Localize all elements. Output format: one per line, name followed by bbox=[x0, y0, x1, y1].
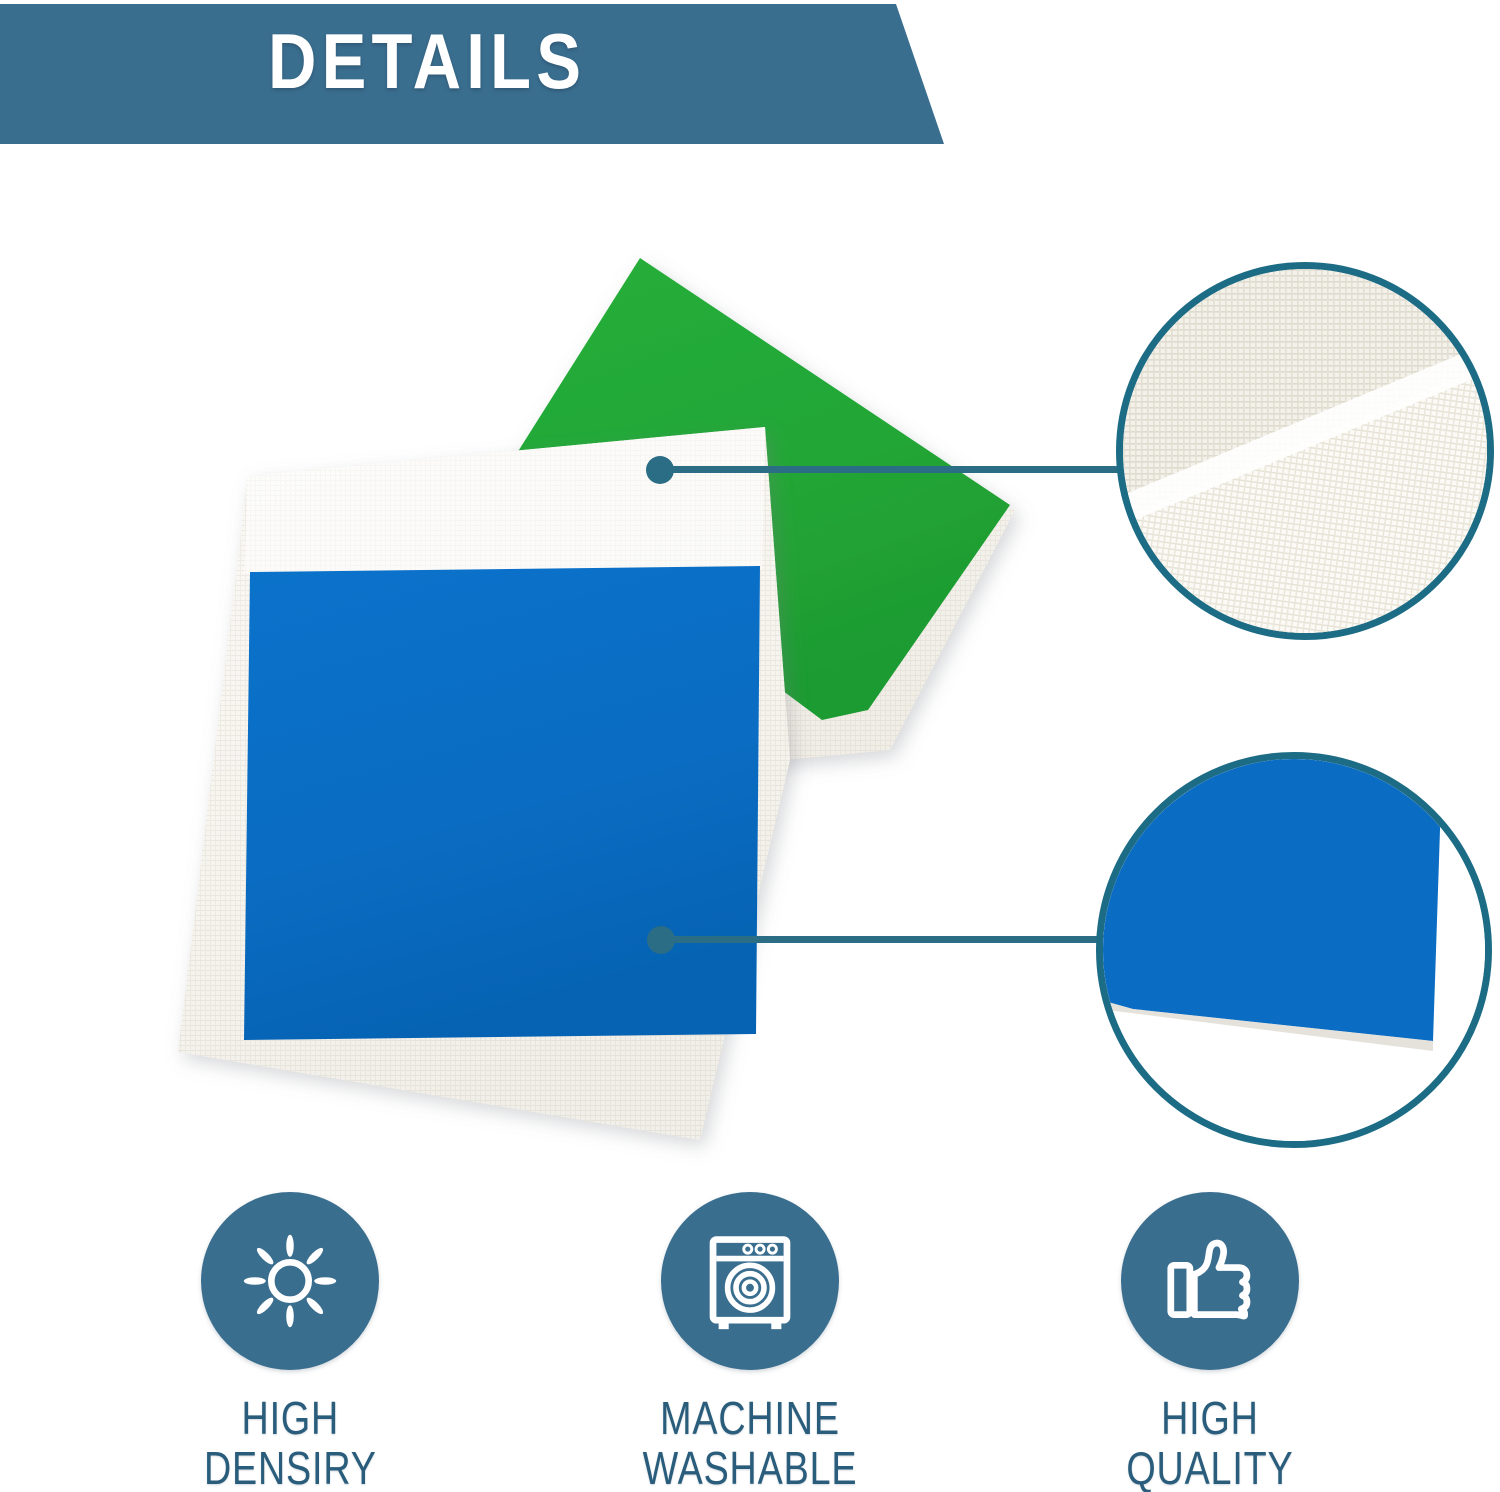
feature-machine-washable: MACHINE WASHABLE bbox=[520, 1192, 980, 1492]
feature-icon-circle bbox=[661, 1192, 839, 1370]
callout-anchor-dot-top bbox=[646, 456, 674, 484]
details-infographic: DETAILS bbox=[0, 0, 1500, 1492]
page-title: DETAILS bbox=[268, 22, 586, 100]
callout-connector-line-bottom bbox=[662, 936, 1112, 943]
callout-anchor-dot-bottom bbox=[647, 926, 675, 954]
feature-label: MACHINE WASHABLE bbox=[643, 1394, 858, 1492]
fabric-weave-closeup bbox=[1116, 262, 1494, 640]
sun-icon bbox=[235, 1226, 345, 1336]
header-banner: DETAILS bbox=[0, 0, 960, 152]
feature-label: HIGH DENSIRY bbox=[204, 1394, 377, 1492]
thumbs-up-icon bbox=[1154, 1225, 1266, 1337]
feature-icon-circle bbox=[201, 1192, 379, 1370]
print-edge-closeup bbox=[1096, 752, 1492, 1148]
washing-machine-icon bbox=[694, 1225, 806, 1337]
feature-high-quality: HIGH QUALITY bbox=[980, 1192, 1440, 1492]
feature-label: HIGH QUALITY bbox=[1126, 1394, 1293, 1492]
blue-printed-block bbox=[244, 566, 760, 1040]
feature-icon-circle bbox=[1121, 1192, 1299, 1370]
feature-row: HIGH DENSIRY bbox=[0, 1192, 1500, 1492]
callout-connector-line-top bbox=[660, 466, 1130, 473]
product-scene bbox=[0, 150, 1110, 1180]
feature-high-density: HIGH DENSIRY bbox=[60, 1192, 520, 1492]
